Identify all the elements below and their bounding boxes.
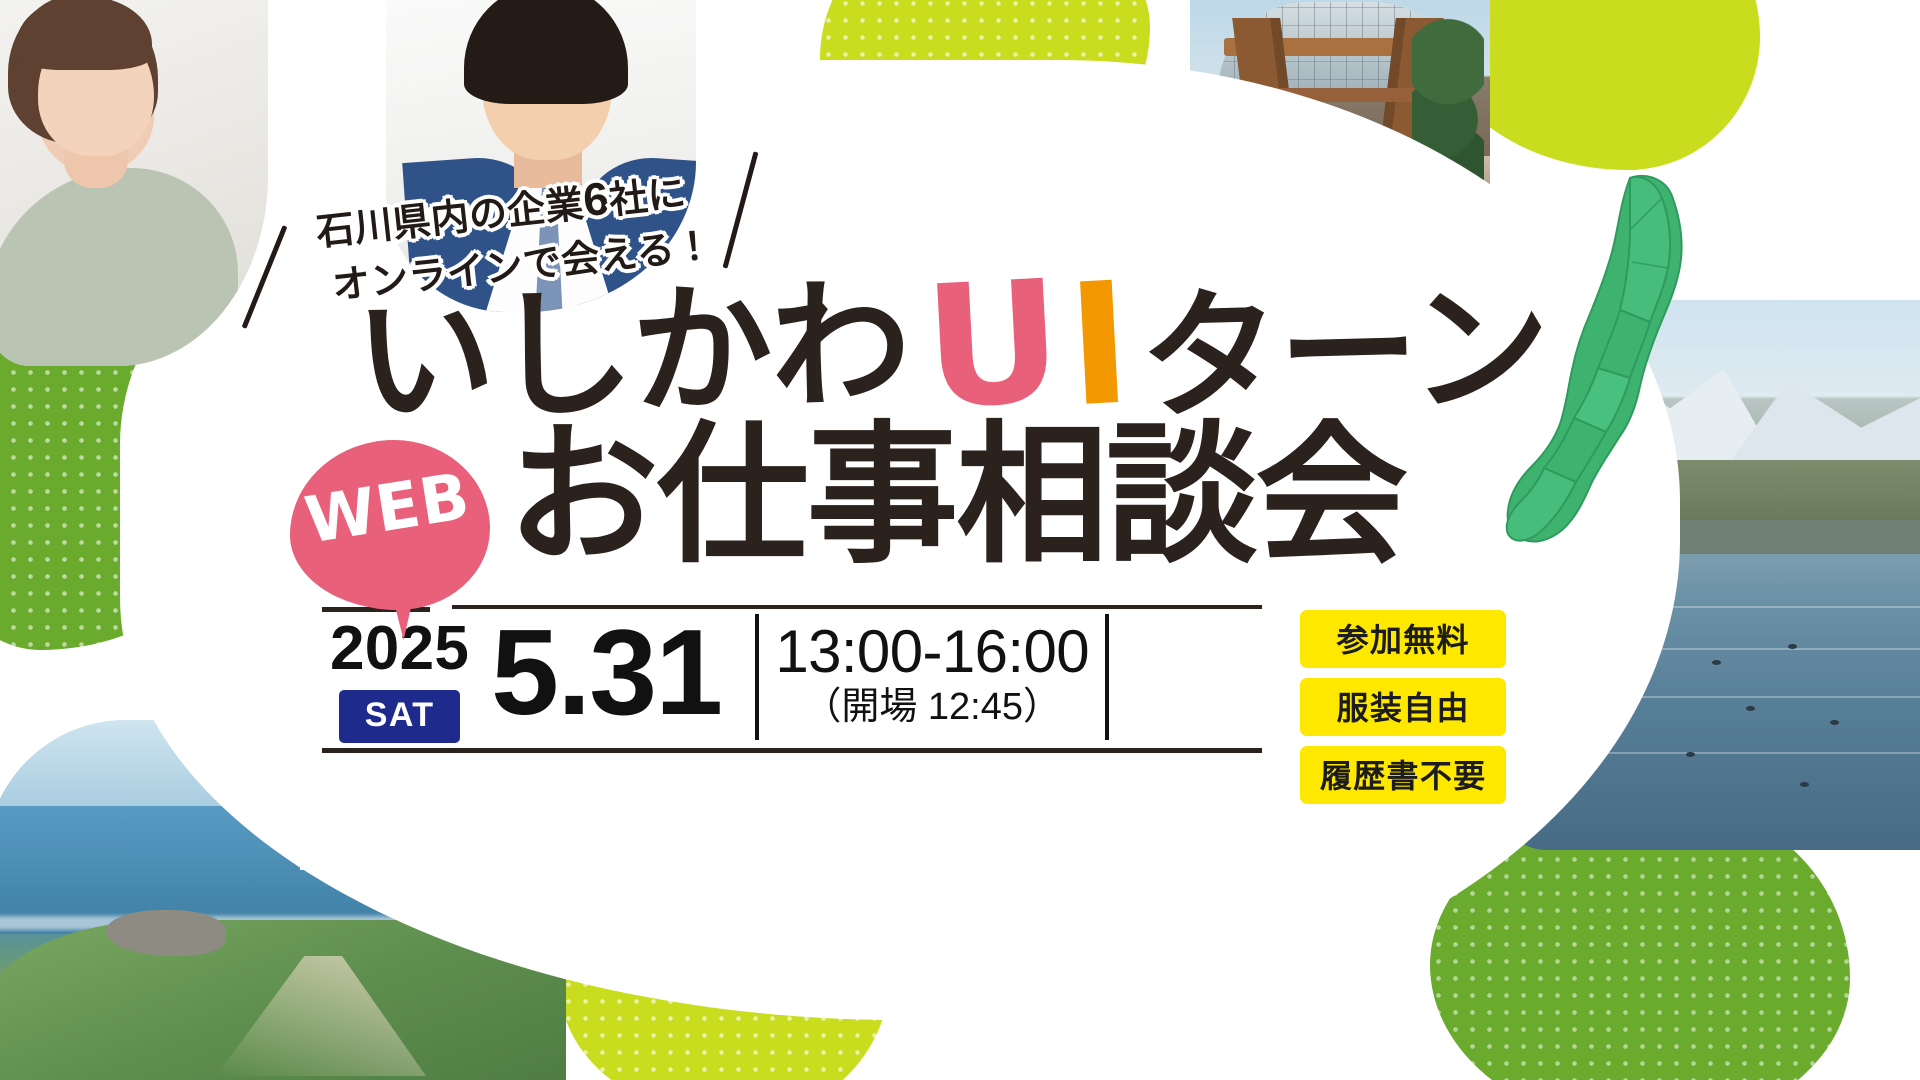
headline: いしかわ U I ターン お仕事相談会 [355, 268, 1548, 423]
web-badge-label: WEB [275, 410, 499, 609]
weekday-badge: SAT [339, 690, 461, 743]
event-date-bar: 2025 SAT 5.31 13:00-16:00 （開場 12:45） [330, 614, 1290, 746]
tag-free-entry: 参加無料 [1300, 610, 1506, 668]
event-year: 2025 [330, 618, 469, 680]
headline-row-1: いしかわ U I ターン [355, 268, 1548, 423]
headline-letter-i: I [1064, 267, 1131, 424]
event-date: 5.31 [491, 614, 721, 731]
divider-bottom [322, 748, 1262, 753]
feature-tags: 参加無料 服装自由 履歴書不要 [1300, 610, 1506, 804]
year-and-weekday: 2025 SAT [330, 614, 469, 743]
slash-left-decoration [242, 225, 288, 329]
event-time-block: 13:00-16:00 （開場 12:45） [755, 614, 1109, 740]
headline-row-2: お仕事相談会 [507, 420, 1405, 572]
event-time-range: 13:00-16:00 [775, 621, 1089, 682]
content-layer: 石川県内の企業6社に オンラインで会える！ いしかわ U I ターン お仕事相談… [0, 0, 1920, 1080]
tag-no-resume: 履歴書不要 [1300, 746, 1506, 804]
slash-right-decoration [723, 151, 759, 268]
headline-ui-logo: U I [925, 268, 1127, 423]
tag-casual-dress: 服装自由 [1300, 678, 1506, 736]
headline-ishikawa: いしかわ [353, 273, 912, 432]
event-doors-open: （開場 12:45） [803, 686, 1061, 730]
headline-letter-u: U [921, 265, 1062, 426]
event-banner: 石川県内の企業6社に オンラインで会える！ いしかわ U I ターン お仕事相談… [0, 0, 1920, 1080]
headline-turn: ターン [1138, 277, 1550, 428]
web-badge: WEB [290, 440, 490, 610]
